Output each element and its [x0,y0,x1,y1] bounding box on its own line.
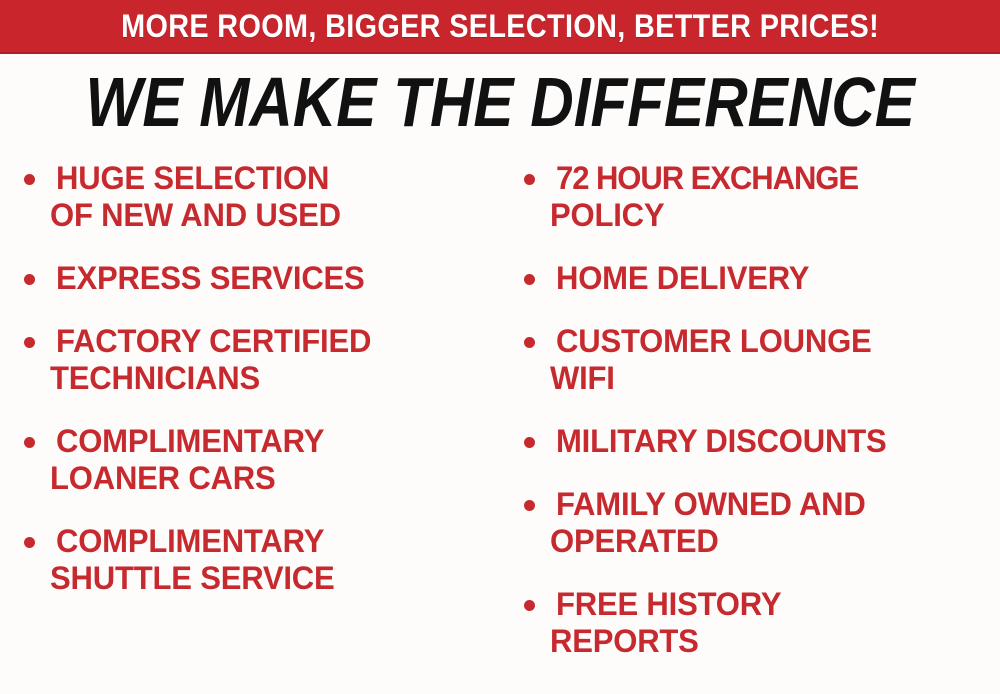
feature-bullet-line: POLICY [550,197,985,234]
feature-bullet-item: HOME DELIVERY [518,260,998,297]
bullet-dot-icon [24,437,35,448]
feature-bullet-item: MILITARY DISCOUNTS [518,423,998,460]
feature-column-right: 72 HOUR EXCHANGEPOLICYHOME DELIVERYCUSTO… [500,160,1000,686]
feature-bullet-line: MILITARY DISCOUNTS [556,423,985,460]
header-bar-text: MORE ROOM, BIGGER SELECTION, BETTER PRIC… [121,10,879,42]
bullet-dot-icon [24,337,35,348]
feature-bullet-line: OF NEW AND USED [50,197,483,234]
bullet-dot-icon [524,274,535,285]
feature-bullet-line: LOANER CARS [50,460,483,497]
feature-bullet-text: CUSTOMER LOUNGEWIFI [556,323,998,397]
feature-bullet-item: HUGE SELECTIONOF NEW AND USED [18,160,496,234]
feature-bullet-line: COMPLIMENTARY [56,523,483,560]
bullet-dot-icon [524,337,535,348]
feature-bullet-text: COMPLIMENTARYLOANER CARS [56,423,496,497]
bullet-dot-icon [24,174,35,185]
header-bar: MORE ROOM, BIGGER SELECTION, BETTER PRIC… [0,0,1000,54]
page-title: WE MAKE THE DIFFERENCE [0,66,1000,138]
bullet-dot-icon [524,174,535,185]
feature-bullet-line: COMPLIMENTARY [56,423,483,460]
feature-bullet-line: FREE HISTORY [556,586,985,623]
feature-bullet-line: FAMILY OWNED AND [556,486,985,523]
feature-bullet-text: HUGE SELECTIONOF NEW AND USED [56,160,496,234]
feature-bullet-item: FAMILY OWNED ANDOPERATED [518,486,998,560]
feature-columns: HUGE SELECTIONOF NEW AND USEDEXPRESS SER… [0,160,1000,694]
feature-bullet-item: CUSTOMER LOUNGEWIFI [518,323,998,397]
feature-bullet-line: OPERATED [550,523,985,560]
feature-bullet-line: CUSTOMER LOUNGE [556,323,985,360]
feature-bullet-line: TECHNICIANS [50,360,483,397]
bullet-dot-icon [24,537,35,548]
feature-column-left: HUGE SELECTIONOF NEW AND USEDEXPRESS SER… [0,160,500,623]
bullet-dot-icon [524,600,535,611]
feature-bullet-line: HUGE SELECTION [56,160,483,197]
feature-bullet-line: WIFI [550,360,985,397]
bullet-dot-icon [524,437,535,448]
feature-bullet-text: 72 HOUR EXCHANGEPOLICY [556,160,998,234]
bullet-dot-icon [524,500,535,511]
promotional-banner: MORE ROOM, BIGGER SELECTION, BETTER PRIC… [0,0,1000,694]
bullet-dot-icon [24,274,35,285]
feature-bullet-text: MILITARY DISCOUNTS [556,423,998,460]
feature-bullet-item: FREE HISTORYREPORTS [518,586,998,660]
feature-bullet-line: HOME DELIVERY [556,260,985,297]
feature-bullet-line: REPORTS [550,623,985,660]
feature-bullet-item: COMPLIMENTARYLOANER CARS [18,423,496,497]
feature-bullet-text: FAMILY OWNED ANDOPERATED [556,486,998,560]
feature-bullet-line: 72 HOUR EXCHANGE [556,160,985,197]
feature-bullet-item: 72 HOUR EXCHANGEPOLICY [518,160,998,234]
feature-bullet-item: COMPLIMENTARYSHUTTLE SERVICE [18,523,496,597]
feature-bullet-line: SHUTTLE SERVICE [50,560,483,597]
feature-bullet-text: FACTORY CERTIFIEDTECHNICIANS [56,323,496,397]
feature-bullet-line: EXPRESS SERVICES [56,260,483,297]
feature-bullet-item: EXPRESS SERVICES [18,260,496,297]
feature-bullet-line: FACTORY CERTIFIED [56,323,483,360]
feature-bullet-text: FREE HISTORYREPORTS [556,586,998,660]
feature-bullet-item: FACTORY CERTIFIEDTECHNICIANS [18,323,496,397]
feature-bullet-text: HOME DELIVERY [556,260,998,297]
feature-bullet-text: EXPRESS SERVICES [56,260,496,297]
feature-bullet-text: COMPLIMENTARYSHUTTLE SERVICE [56,523,496,597]
page-title-text: WE MAKE THE DIFFERENCE [85,66,914,138]
